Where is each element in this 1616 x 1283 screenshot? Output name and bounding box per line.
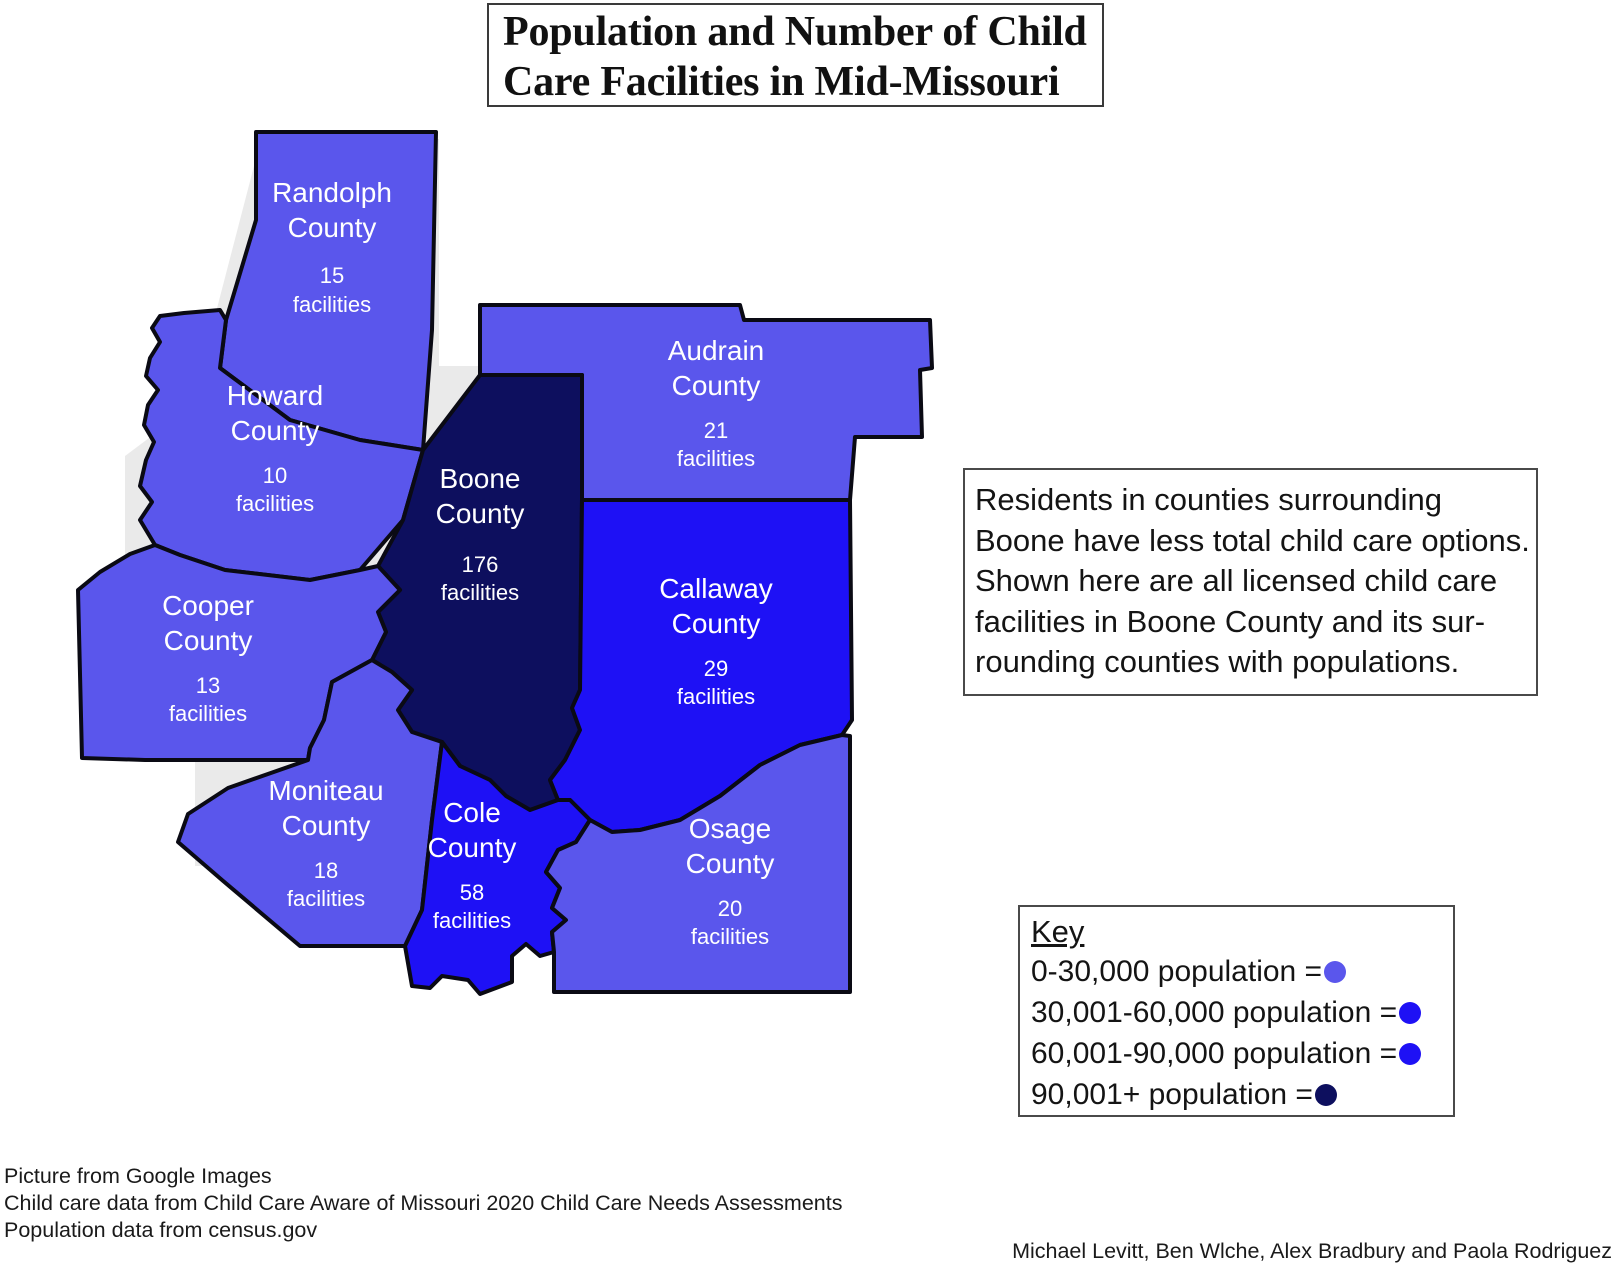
legend-label-1: 30,001-60,000 population = xyxy=(1031,992,1397,1033)
county-osage-count-unit: facilities xyxy=(691,924,769,949)
page-title: Population and Number of Child Care Faci… xyxy=(489,5,1102,107)
county-moniteau-count: 18 xyxy=(314,858,338,883)
legend-row-1: 30,001-60,000 population = xyxy=(1031,992,1453,1033)
county-howard-name-line1: Howard xyxy=(227,380,323,411)
county-howard-name-line2: County xyxy=(231,415,320,446)
county-audrain-count: 21 xyxy=(704,418,728,443)
legend-label-0: 0-30,000 population = xyxy=(1031,951,1322,992)
county-osage-count: 20 xyxy=(718,896,742,921)
county-moniteau-count-unit: facilities xyxy=(287,886,365,911)
county-boone-count: 176 xyxy=(462,552,499,577)
county-randolph-name-line1: Randolph xyxy=(272,177,392,208)
county-randolph-count: 15 xyxy=(320,263,344,288)
county-randolph-name-line2: County xyxy=(288,212,377,243)
county-howard-count: 10 xyxy=(263,463,287,488)
map-svg: Randolph County 15 facilities Audrain Co… xyxy=(60,120,960,1020)
legend-row-2: 60,001-90,000 population = xyxy=(1031,1033,1453,1074)
title-box: Population and Number of Child Care Faci… xyxy=(487,3,1104,107)
county-randolph-count-unit: facilities xyxy=(293,292,371,317)
legend-label-2: 60,001-90,000 population = xyxy=(1031,1033,1397,1074)
county-cooper-name-line2: County xyxy=(164,625,253,656)
county-moniteau-name-line1: Moniteau xyxy=(268,775,383,806)
county-audrain-count-unit: facilities xyxy=(677,446,755,471)
county-cooper-name-line1: Cooper xyxy=(162,590,254,621)
county-howard-count-unit: facilities xyxy=(236,491,314,516)
county-audrain-name-line1: Audrain xyxy=(668,335,765,366)
county-callaway-name-line2: County xyxy=(672,608,761,639)
county-cooper-count: 13 xyxy=(196,673,220,698)
legend-label-3: 90,001+ population = xyxy=(1031,1074,1313,1115)
county-callaway-count: 29 xyxy=(704,656,728,681)
county-cole-name-line2: County xyxy=(428,832,517,863)
county-cooper-count-unit: facilities xyxy=(169,701,247,726)
author-credits: Michael Levitt, Ben Wlche, Alex Bradbury… xyxy=(1012,1238,1612,1265)
county-boone-name-line2: County xyxy=(436,498,525,529)
legend-swatch-3-icon xyxy=(1315,1084,1337,1106)
county-callaway-count-unit: facilities xyxy=(677,684,755,709)
legend-title: Key xyxy=(1031,913,1084,951)
county-callaway-name-line1: Callaway xyxy=(659,573,773,604)
county-boone-name-line1: Boone xyxy=(440,463,521,494)
county-cole-count-unit: facilities xyxy=(433,908,511,933)
county-boone-count-unit: facilities xyxy=(441,580,519,605)
county-osage-name-line1: Osage xyxy=(689,813,772,844)
county-moniteau-name-line2: County xyxy=(282,810,371,841)
county-cole-name-line1: Cole xyxy=(443,797,501,828)
county-cole-count: 58 xyxy=(460,880,484,905)
county-osage-name-line2: County xyxy=(686,848,775,879)
legend-swatch-2-icon xyxy=(1399,1043,1421,1065)
legend-row-0: 0-30,000 population = xyxy=(1031,951,1453,992)
description-text: Residents in counties surrounding Boone … xyxy=(965,470,1536,683)
source-credits: Picture from Google Images Child care da… xyxy=(4,1163,842,1244)
description-box: Residents in counties surrounding Boone … xyxy=(963,468,1538,696)
legend-swatch-0-icon xyxy=(1324,961,1346,983)
legend-key-box: Key 0-30,000 population = 30,001-60,000 … xyxy=(1018,905,1455,1117)
legend-row-3: 90,001+ population = xyxy=(1031,1074,1453,1115)
legend-swatch-1-icon xyxy=(1399,1002,1421,1024)
county-audrain-name-line2: County xyxy=(672,370,761,401)
mid-missouri-county-map: Randolph County 15 facilities Audrain Co… xyxy=(60,120,960,1020)
